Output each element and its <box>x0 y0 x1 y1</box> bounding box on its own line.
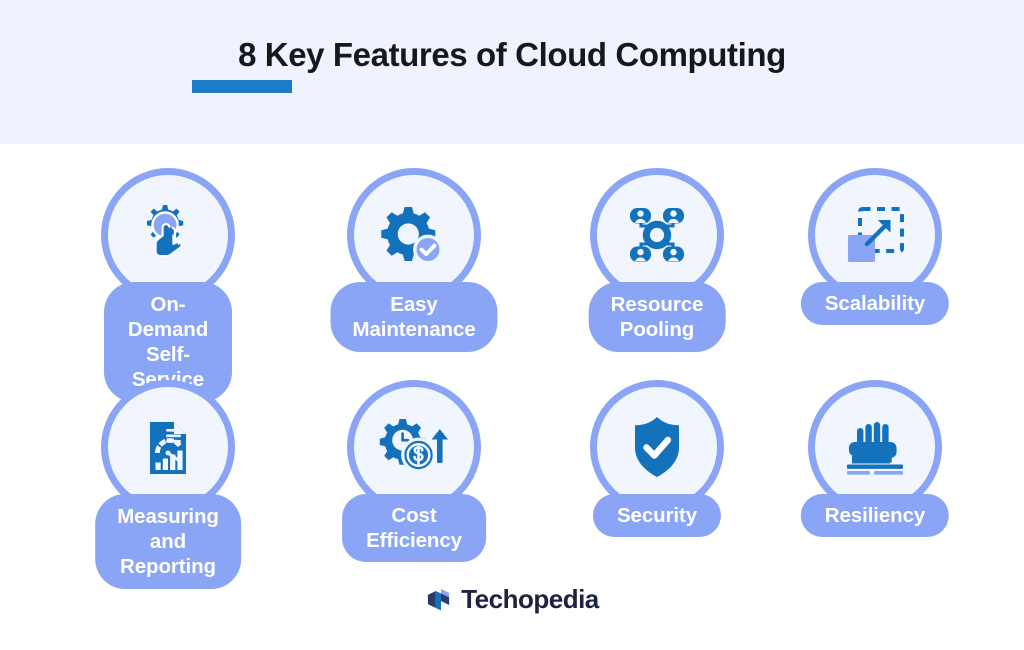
shield-check-icon <box>619 409 695 485</box>
raised-fist-icon <box>837 409 913 485</box>
footer-brand: Techopedia <box>0 578 1024 620</box>
feature-card-resiliency: Resiliency <box>747 356 1003 566</box>
page-title: 8 Key Features of Cloud Computing <box>0 36 1024 74</box>
gear-check-icon <box>376 197 452 273</box>
feature-label: Security <box>593 494 721 537</box>
feature-card-cost-efficiency: Cost Efficiency <box>286 356 542 566</box>
feature-card-on-demand-self-service: On-Demand Self-Service <box>40 144 296 354</box>
gear-clock-dollar-arrow-icon <box>376 409 452 485</box>
gear-hand-pointer-icon <box>130 197 206 273</box>
feature-label-pill-wrap: Cost Efficiency <box>342 494 486 562</box>
feature-label-pill-wrap: Measuring and Reporting <box>95 494 241 589</box>
feature-label-pill-wrap: Easy Maintenance <box>330 282 497 352</box>
feature-label-pill-wrap: Security <box>593 494 721 537</box>
feature-label-pill-wrap: Resiliency <box>801 494 949 537</box>
feature-label: Resource Pooling <box>589 282 726 352</box>
feature-label-pill-wrap: Resource Pooling <box>589 282 726 352</box>
scale-expand-arrow-icon <box>837 197 913 273</box>
feature-label: Resiliency <box>801 494 949 537</box>
brand-name: Techopedia <box>461 584 599 615</box>
feature-label: Scalability <box>801 282 949 325</box>
title-accent-bar <box>192 80 292 93</box>
feature-label: Measuring and Reporting <box>95 494 241 589</box>
resource-pooling-network-icon <box>619 197 695 273</box>
header-band: 8 Key Features of Cloud Computing <box>0 0 1024 144</box>
techopedia-logo-icon <box>425 586 452 613</box>
report-gauge-chart-icon <box>130 409 206 485</box>
feature-label: Cost Efficiency <box>342 494 486 562</box>
infographic-root: 8 Key Features of Cloud Computing <box>0 0 1024 650</box>
feature-card-easy-maintenance: Easy Maintenance <box>286 144 542 354</box>
feature-label-pill-wrap: Scalability <box>801 282 949 325</box>
feature-card-measuring-and-reporting: Measuring and Reporting <box>40 356 296 566</box>
feature-card-scalability: Scalability <box>747 144 1003 354</box>
features-grid: On-Demand Self-Service <box>0 144 1024 564</box>
feature-label: Easy Maintenance <box>330 282 497 352</box>
